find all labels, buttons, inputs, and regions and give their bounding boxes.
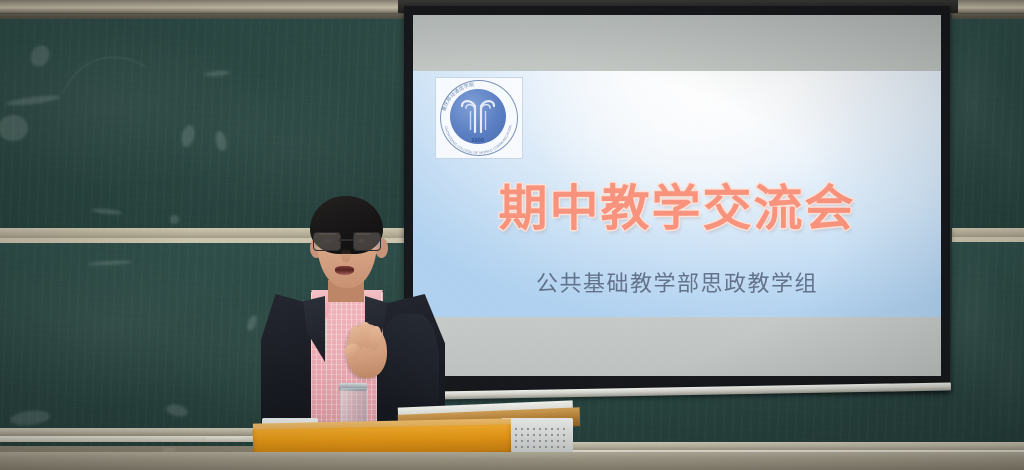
pull-down-projection-screen: 重庆移动通信学院 CHONGQING COLLEGE OF MOBILE COM… [404,6,950,391]
chalk-smudge [170,215,179,224]
screen-canvas: 重庆移动通信学院 CHONGQING COLLEGE OF MOBILE COM… [413,15,941,376]
glasses-bridge [339,239,353,241]
chalk-smudge [180,124,197,148]
chalk-smudge [35,39,214,243]
mouth [335,266,354,275]
slide-subtitle: 公共基础教学部思政教学组 [413,266,941,298]
lens-left [313,232,341,251]
crest-year-label: 2000 [436,138,520,144]
slide-title: 期中教学交流会 [413,169,941,240]
screen-unlit-top [413,15,941,71]
chalk-smudge [214,130,228,152]
chalk-stick[interactable] [206,437,244,441]
chalk-smudge [88,260,132,266]
chalk-smudge [6,94,60,108]
chalk-smudge [27,42,53,70]
presentation-slide: 重庆移动通信学院 CHONGQING COLLEGE OF MOBILE COM… [413,71,941,317]
chalk-smudge [165,403,189,418]
nose [341,248,351,262]
blackboard-panel-lower-right [948,237,1024,458]
blackboard-panel-upper-right [948,14,1024,236]
blackboard-surface [951,19,1024,228]
university-crest-logo: 重庆移动通信学院 CHONGQING COLLEGE OF MOBILE COM… [435,77,523,159]
crest-y-emblem-icon [458,96,498,138]
chalk-smudge [9,409,50,427]
hand-right-gesturing [347,324,387,378]
screen-unlit-bottom [413,317,941,376]
chalk-smudge [92,207,122,215]
lower-wall [0,452,1024,470]
blackboard-surface [951,242,1024,447]
lens-right [353,232,381,251]
classroom-photo: 重庆移动通信学院 CHONGQING COLLEGE OF MOBILE COM… [0,0,1024,470]
chalk-smudge [204,70,230,77]
chalk-smudge [0,115,28,141]
